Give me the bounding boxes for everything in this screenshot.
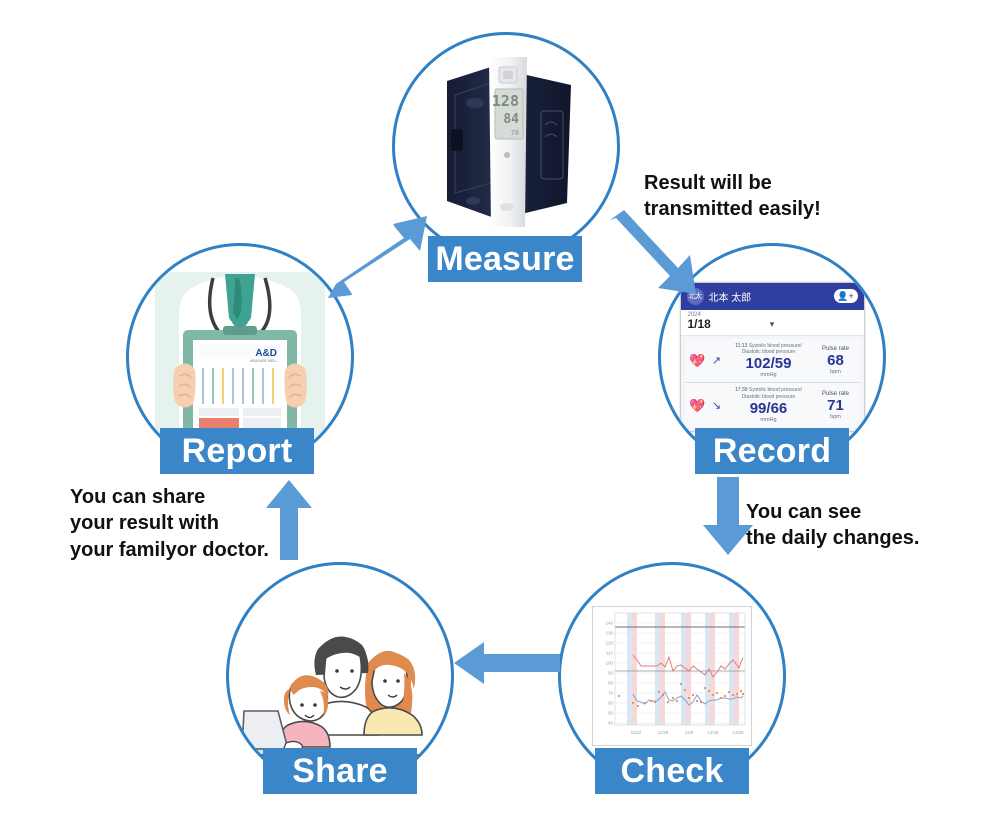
svg-text:40: 40 [608,721,613,726]
bp-unit: mmHg [726,417,812,423]
bp-value: 99/66 [726,400,812,417]
svg-text:128: 128 [492,92,519,110]
chart-svg: 140 130 120 110 100 90 80 70 60 50 40 [593,607,751,745]
svg-text:50: 50 [608,711,613,716]
callout-measure-to-record: Result will be transmitted easily! [644,170,821,223]
user-name: 北本 太郎 [709,289,829,304]
pulse-value: 68 [815,352,857,369]
badge-measure[interactable]: Measure [428,236,582,282]
record-metric-label: Systolic blood pressure/ Diastolic blood… [742,343,802,355]
svg-text:11/29: 11/29 [658,730,669,735]
chevron-down-icon[interactable]: ▾ [770,319,775,330]
badge-measure-label: Measure [435,242,574,276]
badge-record-label: Record [713,434,831,468]
callout-record-to-check: You can see the daily changes. [746,499,919,552]
svg-text:90: 90 [608,671,613,676]
svg-text:12/6: 12/6 [685,730,694,735]
badge-report-label: Report [182,434,293,468]
svg-text:120: 120 [606,641,614,646]
badge-check-label: Check [620,754,723,788]
svg-text:12/20: 12/20 [733,730,745,735]
date-selector[interactable]: 2024 1/18 ▾ [681,310,864,336]
pulse-unit: bpm [815,369,857,375]
sun-hearts-icon: 💖 [688,354,708,367]
moon-hearts-icon: 💖 [688,399,708,412]
badge-report[interactable]: Report [160,428,314,474]
app-header: 北太 北本 太郎 👤+ [681,283,864,310]
person-add-icon[interactable]: 👤+ [834,289,858,303]
record-row[interactable]: 💖 ↘ 17:39 Systolic blood pressure/ Diast… [685,382,860,427]
pulse-block: Pulse rate 71 bpm [815,391,857,420]
arrow-share-to-report [262,478,316,560]
record-values: 17:39 Systolic blood pressure/ Diastolic… [726,387,812,423]
smartphone-app[interactable]: 北太 北本 太郎 👤+ 2024 1/18 ▾ 💖 ↗ 11:1 [680,282,865,432]
callout-share-to-report: You can share your result with your fami… [70,484,269,563]
arrow-up-right-icon: ↗ [711,354,723,367]
date-year: 2024 [688,312,857,319]
blood-pressure-monitor-icon: 128 84 78 [431,51,581,241]
svg-text:110: 110 [606,651,614,656]
doctor-clipboard-icon: A&D MEASURE WELL [155,272,325,442]
svg-text:140: 140 [606,621,614,626]
svg-text:60: 60 [608,701,613,706]
svg-text:130: 130 [606,631,614,636]
badge-share[interactable]: Share [263,748,417,794]
record-meta: 17:39 Systolic blood pressure/ Diastolic… [726,387,812,400]
record-time: 17:39 [735,387,748,393]
record-row[interactable]: 💖 ↗ 11:13 Systolic blood pressure/ Diast… [685,339,860,383]
record-time: 11:13 [735,343,747,349]
badge-share-label: Share [292,754,388,788]
record-values: 11:13 Systolic blood pressure/ Diastolic… [726,343,812,379]
record-meta: 11:13 Systolic blood pressure/ Diastolic… [726,343,812,356]
pulse-unit: bpm [815,414,857,420]
arrow-check-to-share [452,640,560,686]
pulse-block: Pulse rate 68 bpm [815,346,857,375]
pulse-value: 71 [815,397,857,414]
svg-text:A&D: A&D [255,348,277,359]
badge-record[interactable]: Record [695,428,849,474]
cycle-diagram: 128 84 78 Measure 北太 北本 太郎 👤+ 2024 1/18 [0,0,987,834]
bp-unit: mmHg [726,372,812,378]
arrow-down-right-icon: ↘ [711,399,723,412]
svg-text:11/22: 11/22 [631,730,642,735]
record-list: 💖 ↗ 11:13 Systolic blood pressure/ Diast… [681,336,864,432]
badge-check[interactable]: Check [595,748,749,794]
svg-text:84: 84 [503,112,519,127]
svg-text:70: 70 [608,691,613,696]
svg-text:78: 78 [511,129,519,137]
bp-value: 102/59 [726,355,812,372]
line-chart[interactable]: 140 130 120 110 100 90 80 70 60 50 40 [592,606,752,746]
svg-text:12/15: 12/15 [708,730,720,735]
record-metric-label: Systolic blood pressure/ Diastolic blood… [742,387,802,399]
family-laptop-icon [240,619,440,769]
svg-text:100: 100 [606,661,614,666]
arrow-report-to-measure [322,212,432,304]
svg-text:MEASURE WELL: MEASURE WELL [250,359,277,363]
svg-text:80: 80 [608,681,613,686]
arrow-measure-to-record [604,210,700,302]
